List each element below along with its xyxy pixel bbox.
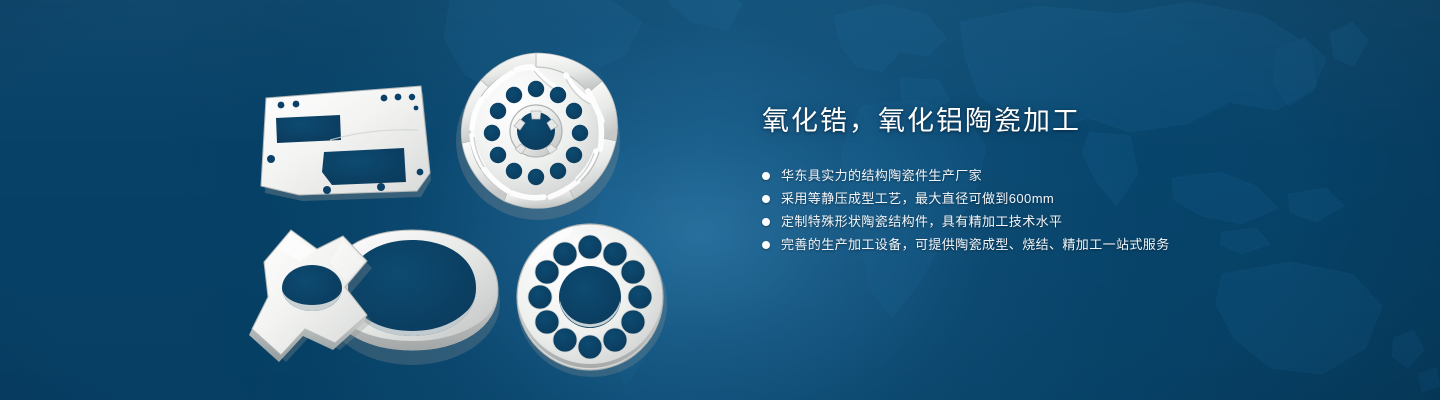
bullet-dot-icon (762, 218, 770, 226)
ceramic-impeller-rotor-graphic (456, 53, 620, 220)
list-item: 定制特殊形状陶瓷结构件，具有精加工技术水平 (762, 210, 1402, 233)
banner-headline: 氧化锆，氧化铝陶瓷加工 (762, 104, 1402, 138)
banner-copy: 氧化锆，氧化铝陶瓷加工 华东具实力的结构陶瓷件生产厂家 采用等静压成型工艺，最大… (762, 104, 1402, 256)
list-item: 采用等静压成型工艺，最大直径可做到600mm (762, 187, 1402, 210)
bullet-dot-icon (762, 195, 770, 203)
ceramic-products-image (0, 0, 720, 400)
list-item: 完善的生产加工设备，可提供陶瓷成型、烧结、精加工一站式服务 (762, 233, 1402, 256)
list-item: 华东具实力的结构陶瓷件生产厂家 (762, 164, 1402, 187)
ceramic-valve-plate-graphic (517, 224, 667, 377)
feature-text: 完善的生产加工设备，可提供陶瓷成型、烧结、精加工一站式服务 (781, 233, 1170, 256)
feature-text: 采用等静压成型工艺，最大直径可做到600mm (781, 187, 1054, 210)
feature-text: 华东具实力的结构陶瓷件生产厂家 (781, 164, 982, 187)
banner-feature-list: 华东具实力的结构陶瓷件生产厂家 采用等静压成型工艺，最大直径可做到600mm 定… (762, 164, 1402, 256)
bullet-dot-icon (762, 241, 770, 249)
bullet-dot-icon (762, 172, 770, 180)
hero-banner: 氧化锆，氧化铝陶瓷加工 华东具实力的结构陶瓷件生产厂家 采用等静压成型工艺，最大… (0, 0, 1440, 400)
ceramic-base-plate-graphic (261, 86, 431, 201)
feature-text: 定制特殊形状陶瓷结构件，具有精加工技术水平 (781, 210, 1062, 233)
